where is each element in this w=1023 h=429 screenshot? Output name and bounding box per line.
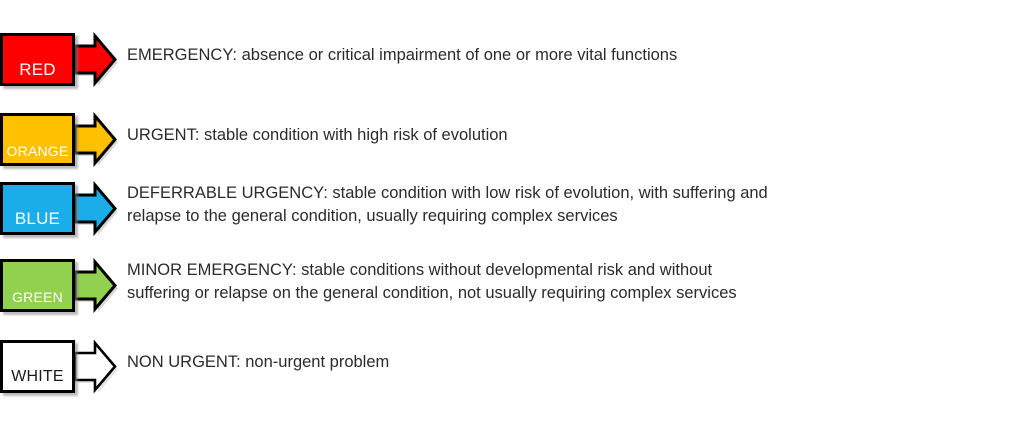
- arrow-orange-icon: [73, 113, 117, 166]
- color-box-label-orange: ORANGE: [7, 144, 69, 163]
- legend-text-blue-line-1: DEFERRABLE URGENCY: stable condition wit…: [127, 182, 768, 205]
- arrow-white-icon: [73, 340, 117, 393]
- legend-row-red: RED EMERGENCY: absence or critical impai…: [0, 33, 677, 86]
- triage-legend: RED EMERGENCY: absence or critical impai…: [0, 0, 1023, 429]
- legend-text-green: MINOR EMERGENCY: stable conditions witho…: [127, 259, 737, 306]
- legend-text-white-line-1: NON URGENT: non-urgent problem: [127, 351, 389, 374]
- legend-text-green-line-1: MINOR EMERGENCY: stable conditions witho…: [127, 259, 737, 282]
- color-box-label-green: GREEN: [12, 290, 63, 309]
- legend-row-blue: BLUE DEFERRABLE URGENCY: stable conditio…: [0, 182, 768, 235]
- color-box-label-red: RED: [19, 61, 56, 83]
- arrow-blue-icon: [73, 182, 117, 235]
- legend-text-red-line-1: EMERGENCY: absence or critical impairmen…: [127, 44, 677, 67]
- legend-text-red: EMERGENCY: absence or critical impairmen…: [127, 33, 677, 67]
- arrow-green-icon: [73, 259, 117, 312]
- legend-row-orange: ORANGE URGENT: stable condition with hig…: [0, 113, 508, 166]
- legend-text-green-line-2: suffering or relapse on the general cond…: [127, 282, 737, 305]
- color-box-white: WHITE: [0, 340, 75, 393]
- legend-text-white: NON URGENT: non-urgent problem: [127, 340, 389, 374]
- color-box-orange: ORANGE: [0, 113, 75, 166]
- arrow-red-icon: [73, 33, 117, 86]
- legend-text-orange-line-1: URGENT: stable condition with high risk …: [127, 124, 508, 147]
- legend-text-blue: DEFERRABLE URGENCY: stable condition wit…: [127, 182, 768, 229]
- legend-text-blue-line-2: relapse to the general condition, usuall…: [127, 205, 768, 228]
- color-box-blue: BLUE: [0, 182, 75, 235]
- legend-row-green: GREEN MINOR EMERGENCY: stable conditions…: [0, 259, 737, 312]
- color-box-green: GREEN: [0, 259, 75, 312]
- legend-row-white: WHITE NON URGENT: non-urgent problem: [0, 340, 389, 393]
- color-box-label-blue: BLUE: [15, 210, 60, 232]
- color-box-red: RED: [0, 33, 75, 86]
- color-box-label-white: WHITE: [11, 369, 64, 390]
- legend-text-orange: URGENT: stable condition with high risk …: [127, 113, 508, 147]
